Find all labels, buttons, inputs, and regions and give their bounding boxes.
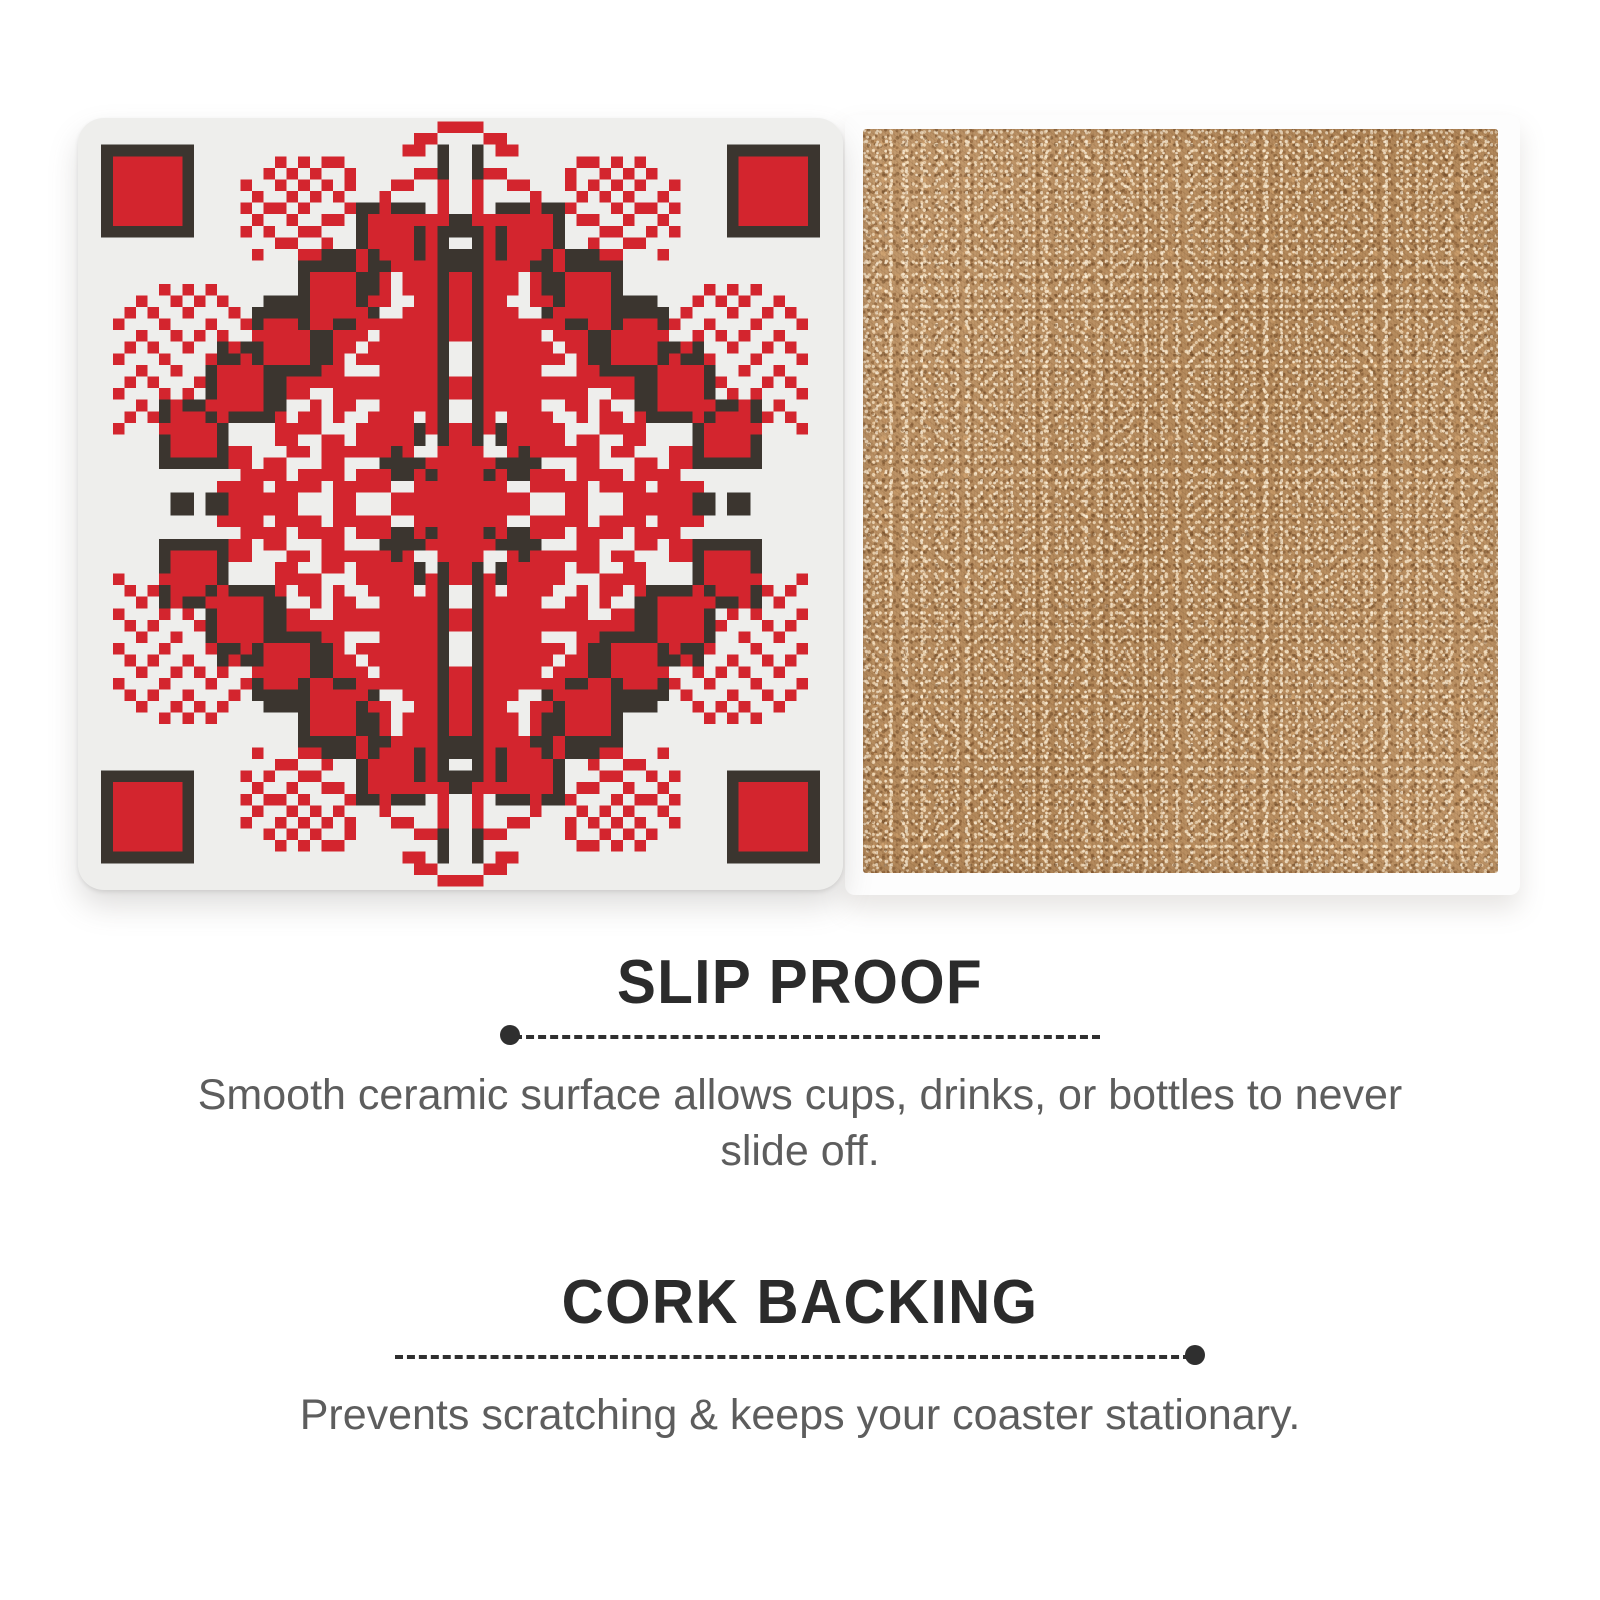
divider-dot [1185, 1345, 1205, 1365]
divider-slip-proof [500, 1024, 1100, 1046]
cork-grain-overlay [863, 129, 1498, 873]
feature-list: SLIP PROOF Smooth ceramic surface allows… [0, 930, 1600, 1600]
feature-title-slip-proof: SLIP PROOF [48, 952, 1552, 1014]
ceramic-coaster-front [78, 118, 843, 890]
feature-cork-backing: CORK BACKING Prevents scratching & keeps… [0, 1180, 1600, 1444]
nordic-cross-stitch-pattern [78, 118, 843, 890]
cork-texture-surface [863, 129, 1498, 873]
dashed-line [514, 1035, 1100, 1039]
cork-coaster-back [845, 115, 1520, 895]
divider-dot [500, 1025, 520, 1045]
feature-slip-proof: SLIP PROOF Smooth ceramic surface allows… [0, 930, 1600, 1180]
product-photo-area [0, 0, 1600, 930]
dashed-line [395, 1355, 1191, 1359]
divider-cork-backing [395, 1344, 1205, 1366]
feature-body-slip-proof: Smooth ceramic surface allows cups, drin… [160, 1068, 1440, 1180]
feature-body-cork-backing: Prevents scratching & keeps your coaster… [90, 1388, 1510, 1444]
feature-title-cork-backing: CORK BACKING [48, 1272, 1552, 1334]
